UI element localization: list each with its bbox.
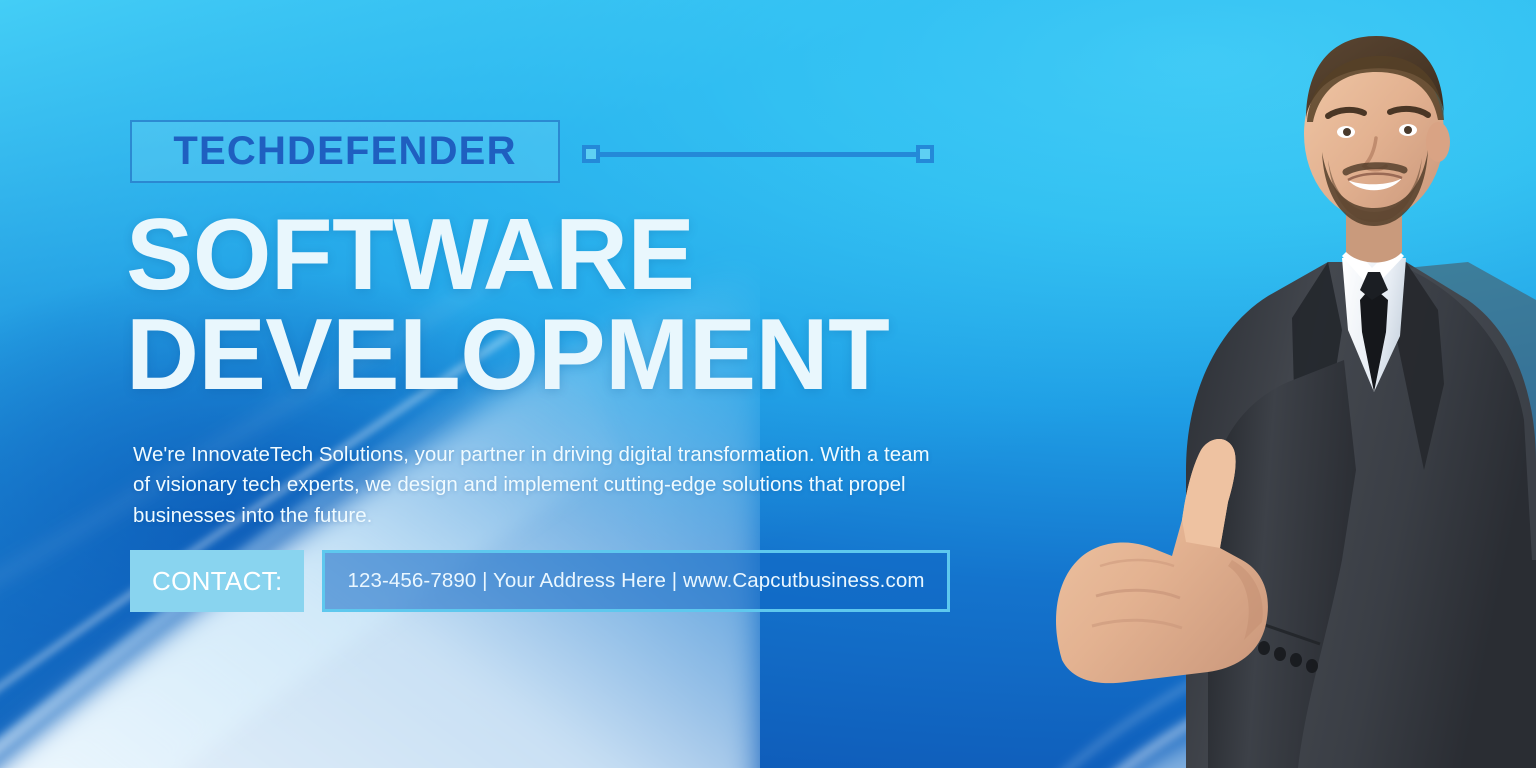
headline-line-2: DEVELOPMENT bbox=[126, 305, 1026, 405]
rule-cap-right-icon bbox=[916, 145, 934, 163]
contact-details-box[interactable]: 123-456-7890 | Your Address Here | www.C… bbox=[322, 550, 949, 612]
headline-line-1: SOFTWARE bbox=[126, 205, 1026, 305]
rule-line bbox=[600, 152, 916, 157]
description-text: We're InnovateTech Solutions, your partn… bbox=[133, 440, 933, 531]
contact-bar: CONTACT: 123-456-7890 | Your Address Her… bbox=[130, 550, 950, 612]
promotional-banner: TECHDEFENDER SOFTWARE DEVELOPMENT We're … bbox=[0, 0, 1536, 768]
page-title: SOFTWARE DEVELOPMENT bbox=[126, 205, 1026, 405]
businessman-photo bbox=[976, 0, 1536, 768]
contact-label: CONTACT: bbox=[130, 550, 304, 612]
decorative-rule bbox=[582, 144, 934, 164]
rule-cap-left-icon bbox=[582, 145, 600, 163]
contact-details: 123-456-7890 | Your Address Here | www.C… bbox=[347, 569, 924, 593]
wave-swoosh-right bbox=[1036, 478, 1536, 768]
brand-name: TECHDEFENDER bbox=[173, 129, 516, 174]
brand-badge: TECHDEFENDER bbox=[130, 120, 560, 183]
